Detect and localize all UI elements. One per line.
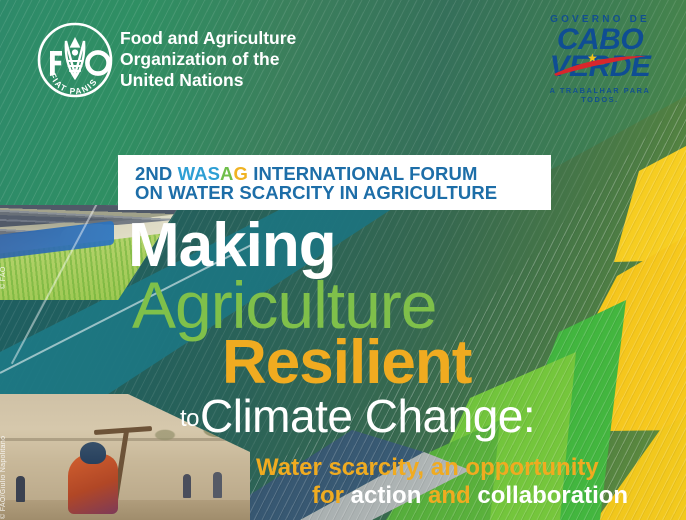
photo-credit-farmer: © FAO/Giulio Napolitano	[0, 436, 7, 519]
subtitle-and: and	[428, 482, 471, 509]
subtitle-line-2: for action and collaboration	[312, 483, 628, 509]
fao-name-line-3: United Nations	[120, 70, 350, 91]
wasag-a: A	[220, 163, 233, 184]
wasag-g: G	[233, 163, 248, 184]
poster-canvas: © FAO © FAO/Giulio Napolitano	[0, 0, 686, 520]
yellow-star-icon: ★	[587, 52, 598, 64]
cabo-verde-tagline: A TRABALHAR PARA TODOS.	[530, 86, 670, 104]
cabo-verde-word-verde: VERDE	[530, 53, 670, 81]
farmer-photo-person-right	[183, 474, 191, 498]
wasag-was: WAS	[178, 163, 220, 184]
fao-logo-icon: FIAT PANIS	[36, 21, 114, 99]
farmer-photo-tree-2	[150, 426, 180, 446]
fao-name-line-2: Organization of the	[120, 49, 350, 70]
headline-resilient: Resilient	[222, 332, 471, 394]
headline-to-climate-change: toClimate Change:	[180, 393, 535, 442]
farmer-photo-ground	[0, 500, 250, 520]
subtitle-collaboration: collaboration	[477, 482, 628, 509]
headline-climate-change: Climate Change:	[200, 390, 535, 442]
cabo-verde-logo: GOVERNO DE CABO ★ VERDE A TRABALHAR PARA…	[530, 14, 670, 98]
subtitle-line-1: Water scarcity, an opportunity	[256, 455, 599, 481]
farmer-photo-person-left	[16, 476, 25, 502]
subtitle-for: for	[312, 482, 344, 509]
photo-credit-solar: © FAO	[0, 266, 7, 289]
forum-suffix: INTERNATIONAL FORUM	[248, 163, 477, 184]
farmer-photo-figure-head	[80, 442, 106, 464]
subtitle-action: action	[351, 482, 422, 509]
header: FIAT PANIS Food and Agriculture Organiza…	[0, 0, 686, 100]
cabo-verde-word-cabo: CABO	[530, 26, 670, 53]
farmer-photo-person-far-right	[213, 472, 222, 498]
forum-prefix: 2ND	[135, 163, 178, 184]
fao-organization-name: Food and Agriculture Organization of the…	[120, 28, 350, 91]
forum-title-bar: 2ND WASAG INTERNATIONAL FORUM ON WATER S…	[118, 155, 551, 210]
headline-to: to	[180, 405, 199, 432]
forum-title-line-1: 2ND WASAG INTERNATIONAL FORUM	[135, 163, 477, 184]
fao-name-line-1: Food and Agriculture	[120, 28, 350, 49]
forum-title-line-2: ON WATER SCARCITY IN AGRICULTURE	[135, 182, 497, 203]
